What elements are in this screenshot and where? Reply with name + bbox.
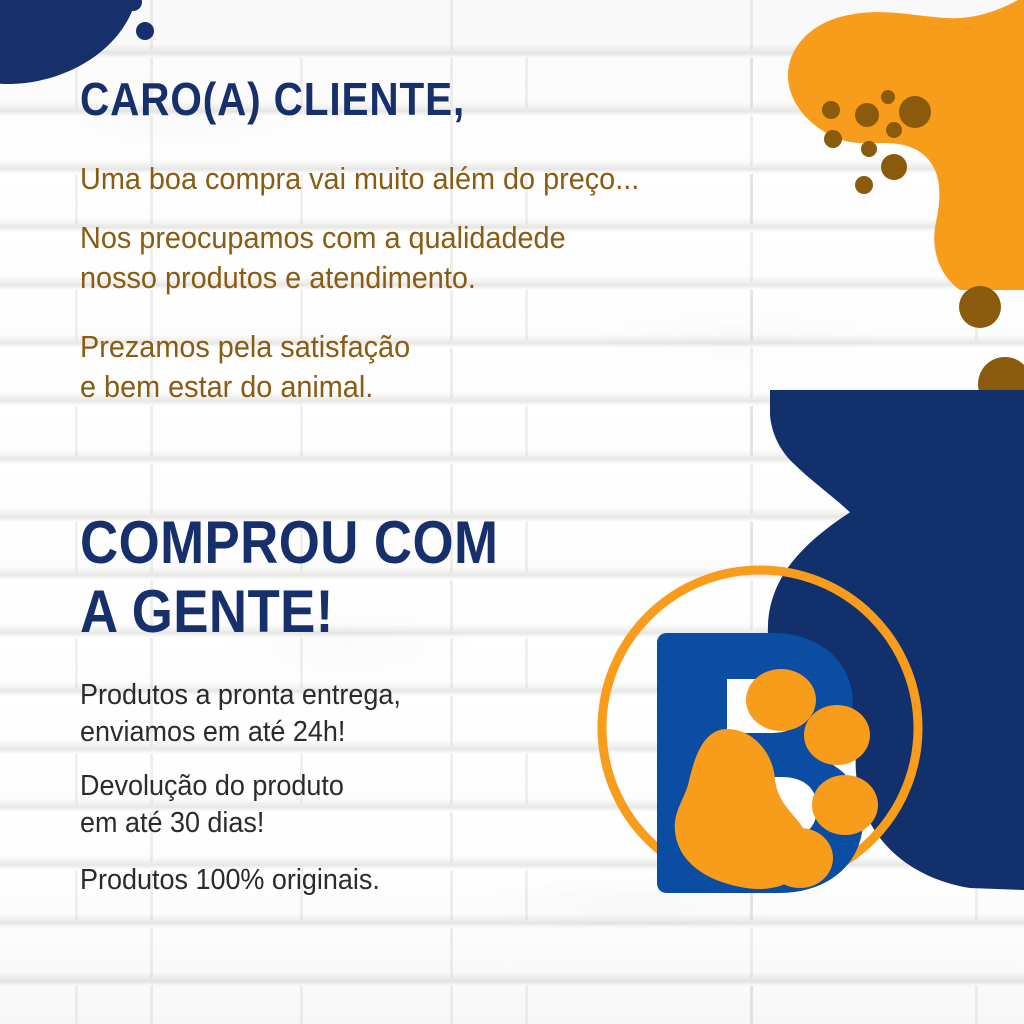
quality-statement: Nos preocupamos com a qualidadede nosso …	[80, 218, 566, 297]
shipping-benefit: Produtos a pronta entrega, enviamos em a…	[80, 677, 401, 751]
return-policy-benefit: Devolução do produto em até 30 dias!	[80, 768, 344, 842]
brand-logo	[595, 563, 925, 893]
navy-dot	[136, 22, 154, 40]
brown-dot	[959, 286, 1001, 328]
authenticity-benefit: Produtos 100% originais.	[80, 862, 380, 899]
intro-tagline: Uma boa compra vai muito além do preço..…	[80, 159, 639, 199]
promotional-graphic: CARO(A) CLIENTE, Uma boa compra vai muit…	[0, 0, 1024, 1024]
brown-dot	[861, 141, 877, 157]
brown-dot	[855, 176, 873, 194]
orange-blob-top-right	[770, 0, 1024, 290]
brown-dot	[824, 130, 842, 148]
brown-dot	[881, 90, 895, 104]
page-title-secondary: COMPROU COM A GENTE!	[80, 508, 498, 646]
brown-dot	[886, 122, 902, 138]
brown-dot	[822, 101, 840, 119]
brown-dot	[899, 96, 931, 128]
page-title-primary: CARO(A) CLIENTE,	[80, 76, 465, 123]
brown-dot	[881, 154, 907, 180]
brown-dot	[855, 103, 879, 127]
satisfaction-statement: Prezamos pela satisfação e bem estar do …	[80, 327, 410, 406]
